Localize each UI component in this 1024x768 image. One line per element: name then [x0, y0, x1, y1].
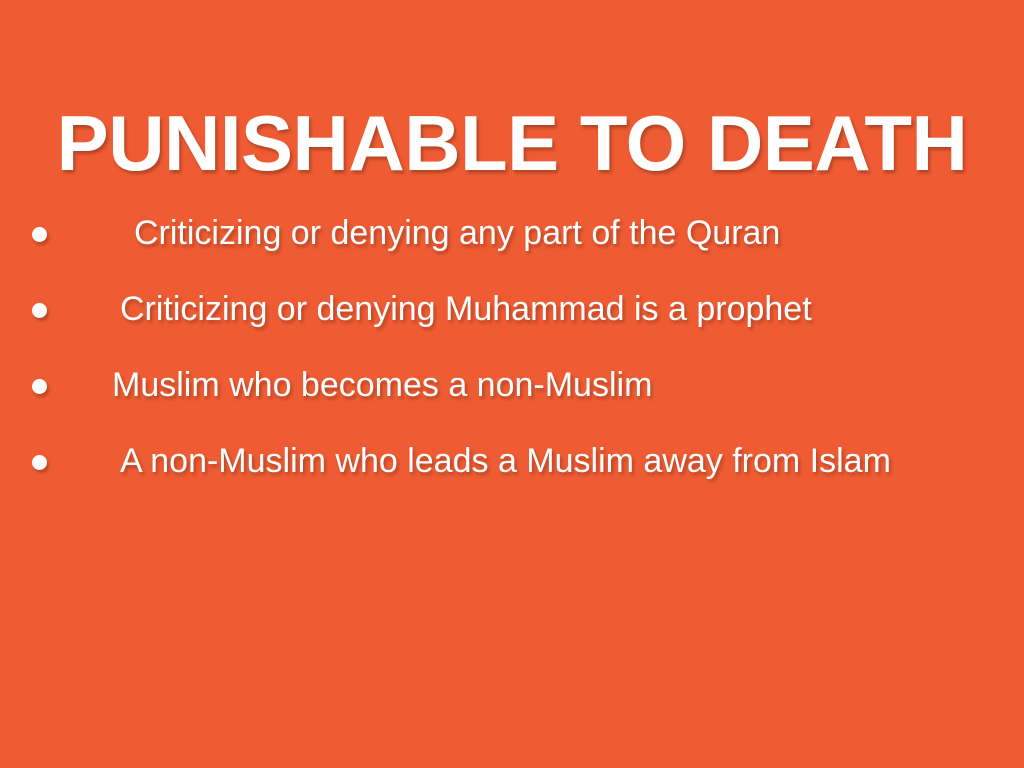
bullet-dot-icon: [32, 227, 47, 242]
list-item-label: A non-Muslim who leads a Muslim away fro…: [120, 443, 891, 480]
list-item: Muslim who becomes a non-Muslim: [0, 348, 1024, 424]
list-item-label: Criticizing or denying any part of the Q…: [134, 215, 780, 252]
list-item: Criticizing or denying any part of the Q…: [0, 196, 1024, 272]
slide-canvas: PUNISHABLE TO DEATH Criticizing or denyi…: [0, 0, 1024, 768]
list-item: Criticizing or denying Muhammad is a pro…: [0, 272, 1024, 348]
list-item-label: Muslim who becomes a non-Muslim: [112, 367, 652, 404]
bullet-list: Criticizing or denying any part of the Q…: [0, 196, 1024, 500]
page-title: PUNISHABLE TO DEATH: [0, 104, 1024, 182]
bullet-dot-icon: [32, 379, 47, 394]
bullet-dot-icon: [32, 303, 47, 318]
bullet-dot-icon: [32, 455, 47, 470]
slide-empty-area: [0, 500, 1024, 768]
list-item: A non-Muslim who leads a Muslim away fro…: [0, 424, 1024, 500]
list-item-label: Criticizing or denying Muhammad is a pro…: [120, 291, 812, 328]
